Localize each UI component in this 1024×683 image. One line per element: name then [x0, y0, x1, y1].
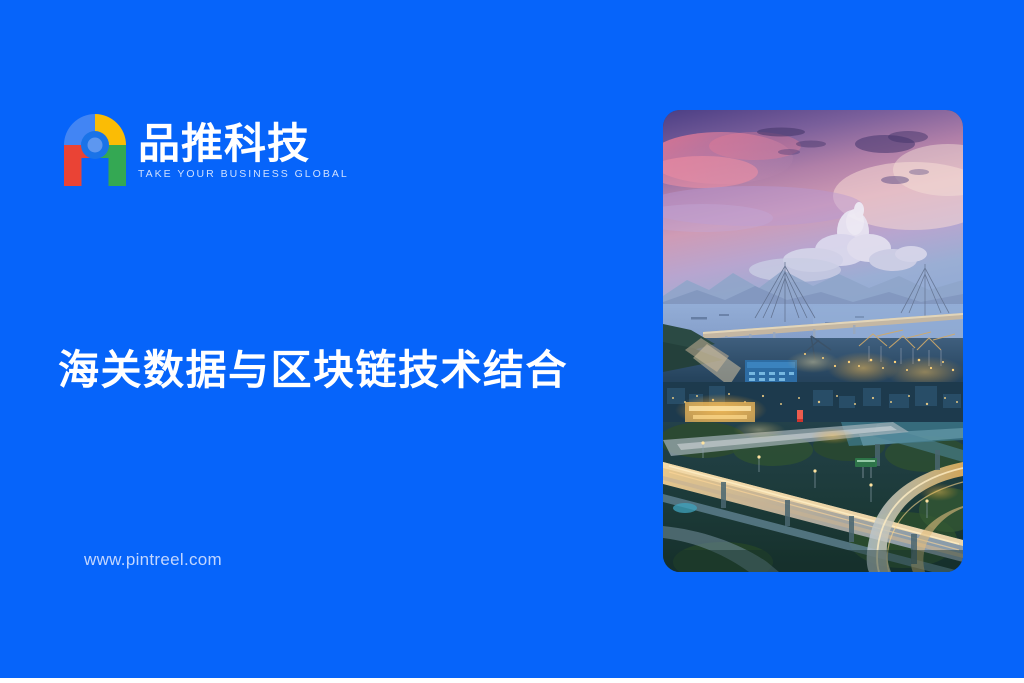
- website-url[interactable]: www.pintreel.com: [84, 548, 222, 572]
- slide-canvas: 品推科技 TAKE YOUR BUSINESS GLOBAL 海关数据与区块链技…: [0, 0, 1024, 683]
- hero-photo: [663, 110, 963, 572]
- brand-name-cn: 品推科技: [138, 122, 349, 166]
- page-title: 海关数据与区块链技术结合: [58, 344, 568, 396]
- brand-logo[interactable]: 品推科技 TAKE YOUR BUSINESS GLOBAL: [62, 112, 349, 186]
- brand-wordmark: 品推科技 TAKE YOUR BUSINESS GLOBAL: [138, 118, 349, 181]
- bottom-edge-strip: [0, 678, 1024, 683]
- pintreel-p-mark-icon: [62, 112, 128, 186]
- brand-tagline: TAKE YOUR BUSINESS GLOBAL: [138, 167, 349, 181]
